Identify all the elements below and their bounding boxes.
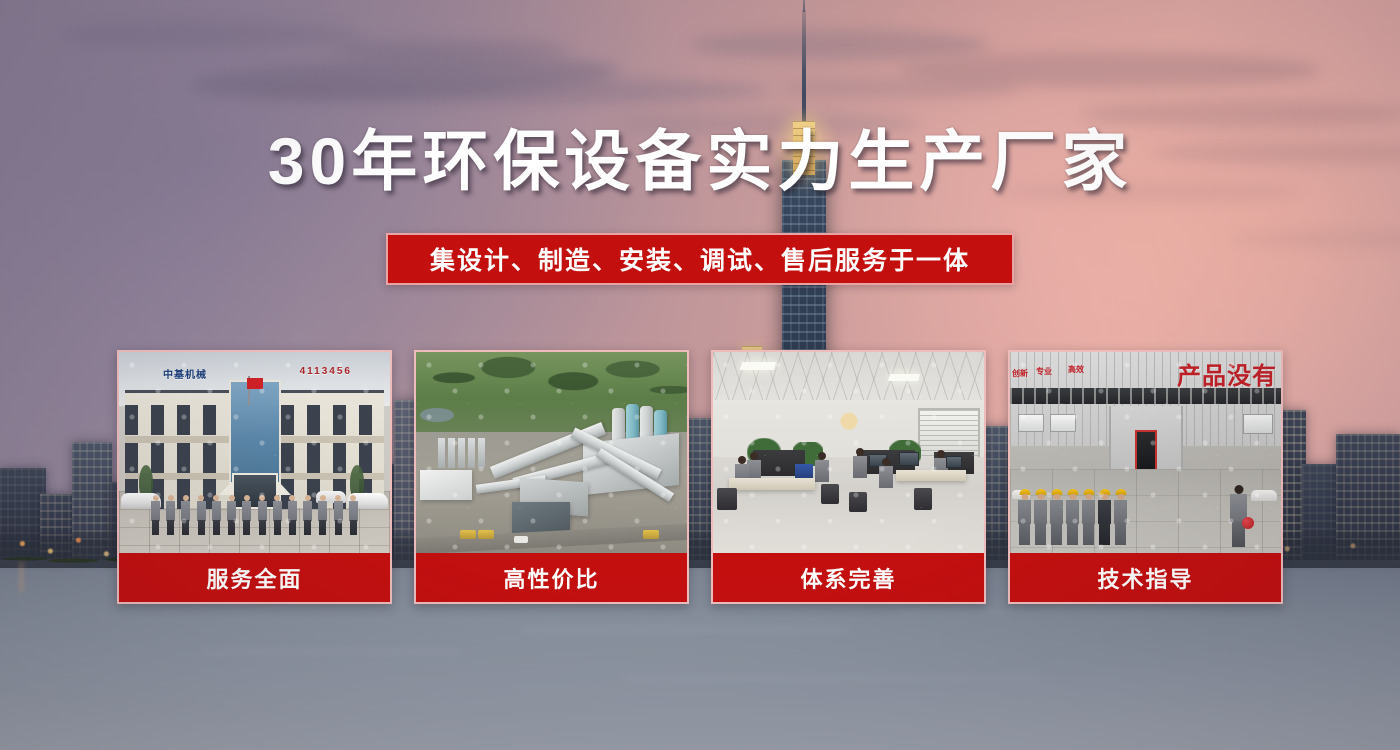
photo-desk bbox=[729, 478, 815, 490]
feature-card-value[interactable]: 高性价比 bbox=[414, 350, 689, 604]
card-photo-industrial-plant bbox=[416, 352, 687, 553]
photo-stack bbox=[478, 438, 485, 468]
photo-ceiling bbox=[713, 352, 984, 404]
card-caption: 体系完善 bbox=[713, 553, 984, 602]
photo-chair bbox=[821, 484, 839, 504]
photo-monitor bbox=[899, 452, 919, 466]
water-streak bbox=[520, 627, 850, 632]
cloud bbox=[690, 30, 990, 60]
photo-worker-line bbox=[1018, 489, 1127, 545]
photo-person bbox=[242, 495, 251, 535]
photo-wall-slogan: 高效 bbox=[1068, 366, 1084, 375]
photo-truck bbox=[514, 536, 528, 543]
photo-staff-row bbox=[151, 491, 358, 535]
photo-window bbox=[1018, 414, 1044, 432]
photo-worker bbox=[1114, 489, 1127, 545]
photo-car bbox=[1251, 490, 1277, 501]
photo-laptop bbox=[795, 464, 813, 478]
cloud bbox=[900, 52, 1320, 88]
water-streak bbox=[200, 650, 460, 654]
photo-worker bbox=[1082, 489, 1095, 545]
photo-worker bbox=[1050, 489, 1063, 545]
photo-person bbox=[853, 448, 867, 478]
photo-building bbox=[420, 470, 472, 500]
cloud bbox=[60, 22, 360, 48]
subtitle-banner: 集设计、制造、安装、调试、售后服务于一体 bbox=[386, 233, 1014, 285]
photo-window-band bbox=[1010, 388, 1281, 404]
card-photo-factory-workers: 产品没有 创新 专业 高效 bbox=[1010, 352, 1281, 553]
feature-card-row: 中基机械 4113456 bbox=[117, 350, 1283, 604]
photo-phone-sign: 4113456 bbox=[300, 366, 352, 377]
photo-wall-slogan: 专业 bbox=[1036, 368, 1052, 377]
photo-company-sign: 中基机械 bbox=[163, 366, 207, 381]
photo-person bbox=[349, 495, 358, 535]
banner-stage: 30年环保设备实力生产厂家 集设计、制造、安装、调试、售后服务于一体 bbox=[0, 0, 1400, 750]
photo-stack bbox=[468, 438, 475, 468]
photo-excavator bbox=[478, 530, 494, 539]
photo-wall-decal bbox=[834, 410, 864, 438]
water-streak bbox=[620, 676, 1040, 680]
card-caption: 技术指导 bbox=[1010, 553, 1281, 602]
tower-antenna bbox=[802, 10, 806, 122]
photo-flag bbox=[247, 378, 263, 389]
photo-ceiling-light bbox=[740, 362, 777, 370]
photo-stack bbox=[448, 438, 455, 468]
photo-person bbox=[258, 495, 267, 535]
photo-person bbox=[181, 495, 190, 535]
photo-window bbox=[1050, 414, 1076, 432]
page-title: 30年环保设备实力生产厂家 bbox=[0, 126, 1400, 197]
photo-worker bbox=[1098, 489, 1111, 545]
photo-person bbox=[151, 495, 160, 535]
feature-card-service[interactable]: 中基机械 4113456 bbox=[117, 350, 392, 604]
photo-pond bbox=[420, 408, 454, 422]
photo-person bbox=[879, 458, 893, 488]
photo-person bbox=[303, 495, 312, 535]
card-photo-office-interior bbox=[713, 352, 984, 553]
card-photo-office-building: 中基机械 4113456 bbox=[119, 352, 390, 553]
photo-chair bbox=[914, 488, 932, 510]
photo-excavator bbox=[643, 530, 659, 539]
photo-person bbox=[318, 495, 327, 535]
photo-excavator bbox=[460, 530, 476, 539]
photo-worker bbox=[1066, 489, 1079, 545]
photo-person bbox=[227, 495, 236, 535]
photo-person bbox=[334, 495, 343, 535]
photo-person bbox=[288, 495, 297, 535]
photo-wall-slogan: 创新 bbox=[1012, 370, 1028, 379]
card-caption: 高性价比 bbox=[416, 553, 687, 602]
photo-supervisor bbox=[1230, 485, 1247, 547]
photo-wall-headline: 产品没有 bbox=[1177, 356, 1277, 391]
photo-person bbox=[273, 495, 282, 535]
photo-stack bbox=[438, 438, 445, 468]
photo-person bbox=[815, 452, 829, 482]
photo-chair bbox=[717, 488, 737, 510]
photo-person bbox=[197, 495, 206, 535]
feature-card-system[interactable]: 体系完善 bbox=[711, 350, 986, 604]
photo-factory-door bbox=[1135, 430, 1157, 472]
photo-stack bbox=[458, 438, 465, 468]
photo-desk bbox=[896, 470, 966, 481]
card-caption: 服务全面 bbox=[119, 553, 390, 602]
feature-card-guidance[interactable]: 产品没有 创新 专业 高效 bbox=[1008, 350, 1283, 604]
photo-worker bbox=[1034, 489, 1047, 545]
photo-silo bbox=[612, 408, 625, 442]
photo-monitor bbox=[946, 456, 962, 468]
photo-ceiling-light bbox=[888, 374, 920, 381]
subtitle-banner-wrap: 集设计、制造、安装、调试、售后服务于一体 bbox=[0, 233, 1400, 285]
cloud bbox=[250, 78, 770, 104]
photo-person bbox=[166, 495, 175, 535]
photo-worker bbox=[1018, 489, 1031, 545]
photo-person bbox=[212, 495, 221, 535]
water-streak bbox=[900, 610, 1200, 614]
photo-chair bbox=[849, 492, 867, 512]
photo-window bbox=[1243, 414, 1273, 434]
